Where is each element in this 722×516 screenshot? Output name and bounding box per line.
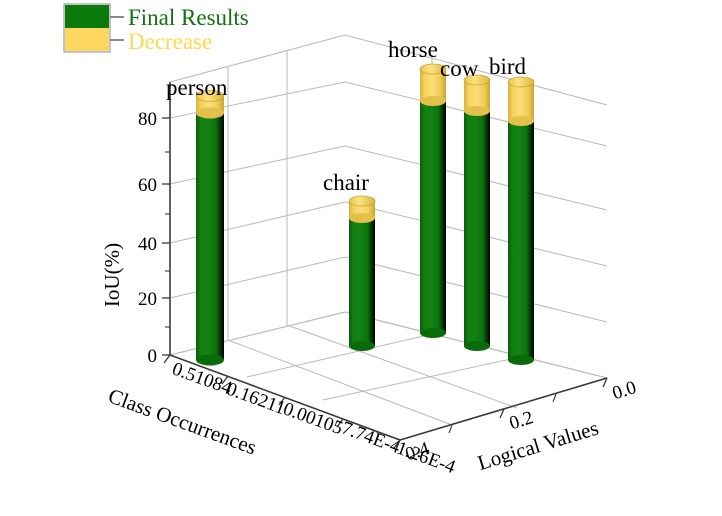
legend-swatch-decrease[interactable]	[65, 28, 109, 51]
bar-person	[196, 91, 224, 366]
bar-label-bird: bird	[489, 54, 527, 79]
y-tick-label-60: 60	[138, 175, 157, 196]
legend-label-final-results: Final Results	[128, 5, 249, 30]
bar-chair	[349, 196, 375, 351]
bar-label-cow: cow	[440, 56, 479, 81]
bar-chart-3d: 0 20 40 60 80 IoU(%) 0.51084 0.16211 0.0…	[0, 0, 722, 516]
y-axis-title: IoU(%)	[100, 243, 124, 307]
bar-label-person: person	[166, 75, 228, 100]
y-tick-label-80: 80	[138, 109, 157, 130]
bar-bird	[508, 77, 534, 365]
y-tick-label-20: 20	[138, 289, 157, 310]
y-tick-label-0: 0	[148, 346, 158, 367]
bar-label-horse: horse	[388, 37, 438, 62]
bar-cow	[464, 75, 490, 351]
y-tick-label-40: 40	[138, 234, 157, 255]
y-axis-ticks	[162, 118, 170, 355]
z-axis-title: Logical Values	[475, 416, 602, 475]
z-tick-label-00: 0.0	[610, 377, 639, 404]
chart-container: 0 20 40 60 80 IoU(%) 0.51084 0.16211 0.0…	[0, 0, 722, 516]
legend: Final Results Decrease	[64, 4, 249, 54]
bar-label-chair: chair	[323, 170, 369, 195]
bar-horse	[420, 64, 446, 338]
z-tick-label-02: 0.2	[507, 407, 536, 434]
legend-swatch-final-results[interactable]	[65, 5, 109, 28]
legend-label-decrease: Decrease	[128, 29, 212, 54]
